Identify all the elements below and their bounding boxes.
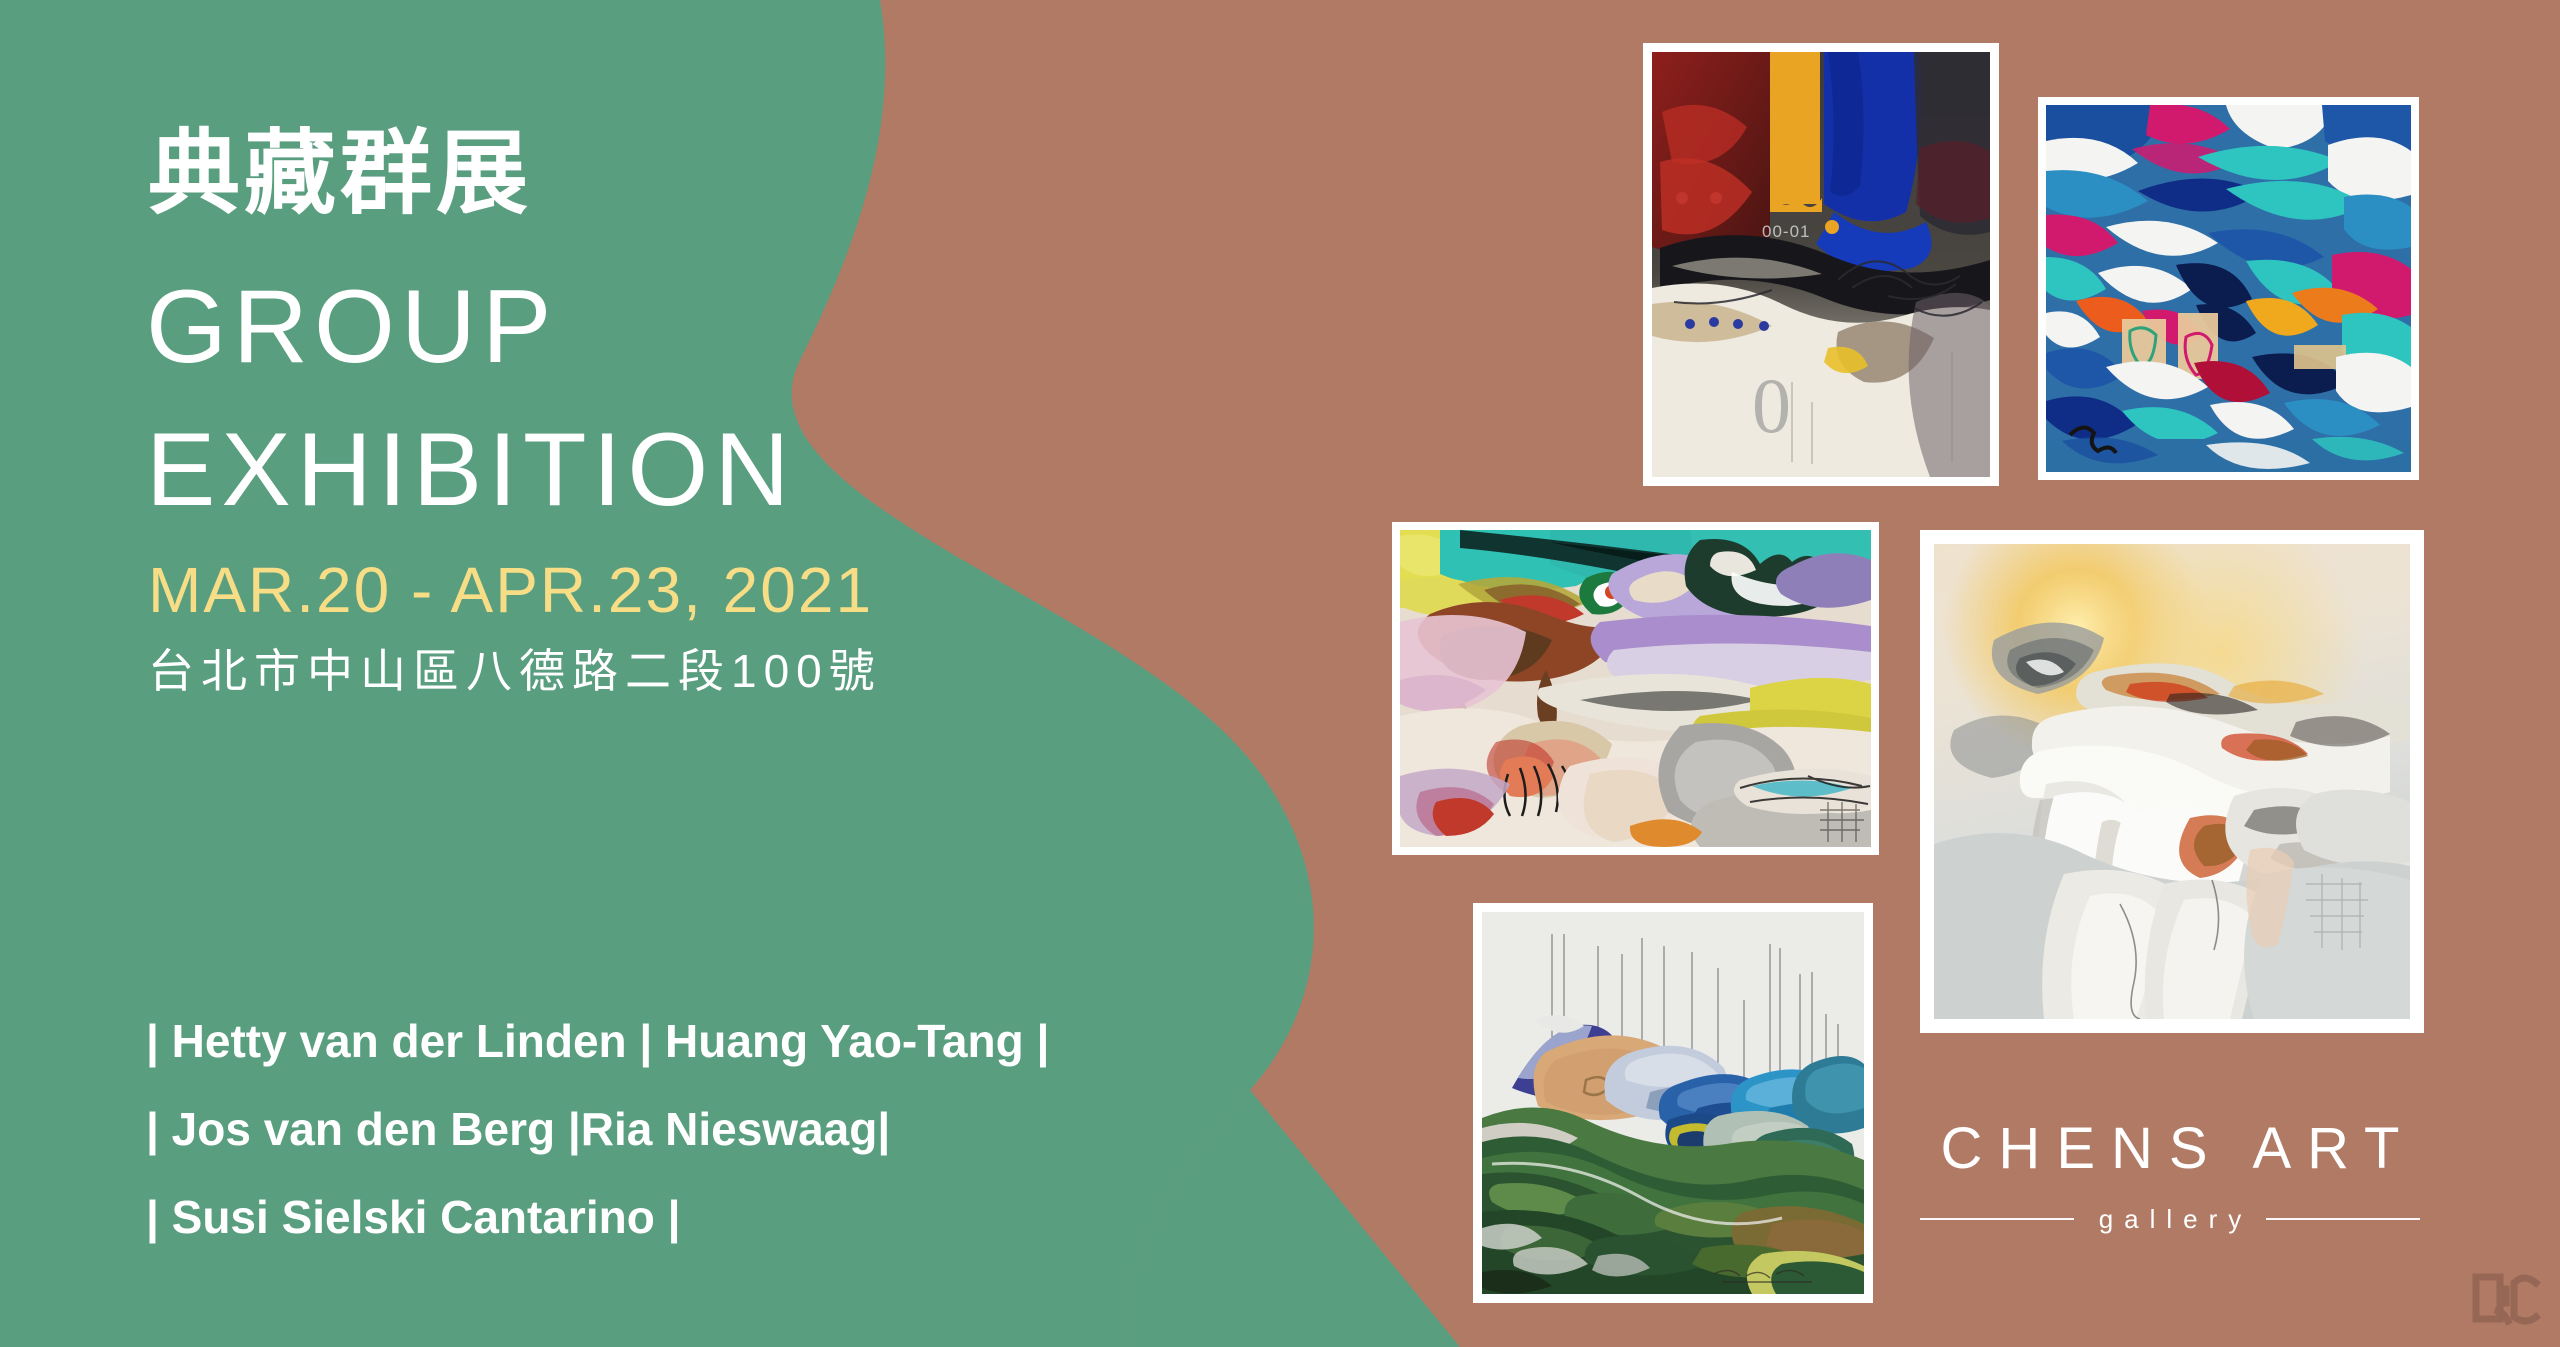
- artwork-soft-grey-ochre-abstract: [1920, 530, 2424, 1033]
- title-english-line2: EXHIBITION: [146, 418, 795, 522]
- artwork-green-hills-landscape: [1473, 903, 1873, 1303]
- artwork-canvas: [2046, 105, 2411, 472]
- svg-text:0: 0: [1752, 362, 1791, 449]
- title-chinese: 典藏群展: [148, 128, 532, 220]
- artwork-figurative-animal-abstract: [1392, 522, 1879, 855]
- artist-list-row: | Hetty van der Linden | Huang Yao-Tang …: [146, 1018, 1046, 1064]
- open-book-icon: [2470, 1269, 2542, 1331]
- artwork-canvas: [1934, 544, 2410, 1019]
- logo-rule-left: [1920, 1218, 2074, 1220]
- artwork-canvas: [1482, 912, 1864, 1294]
- svg-text:00-01: 00-01: [1762, 222, 1810, 241]
- venue-address: 台北市中山區八德路二段100號: [148, 648, 882, 694]
- exhibition-poster: 典藏群展 GROUP EXHIBITION MAR.20 - APR.23, 2…: [0, 0, 2560, 1347]
- exhibition-date-range: MAR.20 - APR.23, 2021: [148, 558, 873, 622]
- gallery-name: CHENS ART: [1920, 1120, 2420, 1178]
- logo-rule-right: [2266, 1218, 2420, 1220]
- artist-list-row: | Jos van den Berg |Ria Nieswaag|: [146, 1106, 1046, 1152]
- title-english-line1: GROUP: [146, 275, 557, 379]
- artwork-canvas: [1400, 530, 1871, 847]
- artwork-cobra-colorful-abstract: [2038, 97, 2419, 480]
- gallery-logo: CHENS ART gallery: [1920, 1120, 2420, 1232]
- gallery-sub-wrap: gallery: [1920, 1206, 2420, 1232]
- poster-text-column: 典藏群展 GROUP EXHIBITION MAR.20 - APR.23, 2…: [0, 0, 1200, 1347]
- artwork-canvas: 00-01 0: [1652, 52, 1990, 477]
- artist-list-row: | Susi Sielski Cantarino |: [146, 1194, 1046, 1240]
- artwork-abstract-red-blue-orange: 00-01 0: [1643, 43, 1999, 486]
- artist-list: | Hetty van der Linden | Huang Yao-Tang …: [146, 1018, 1046, 1240]
- gallery-subtitle: gallery: [2088, 1206, 2253, 1232]
